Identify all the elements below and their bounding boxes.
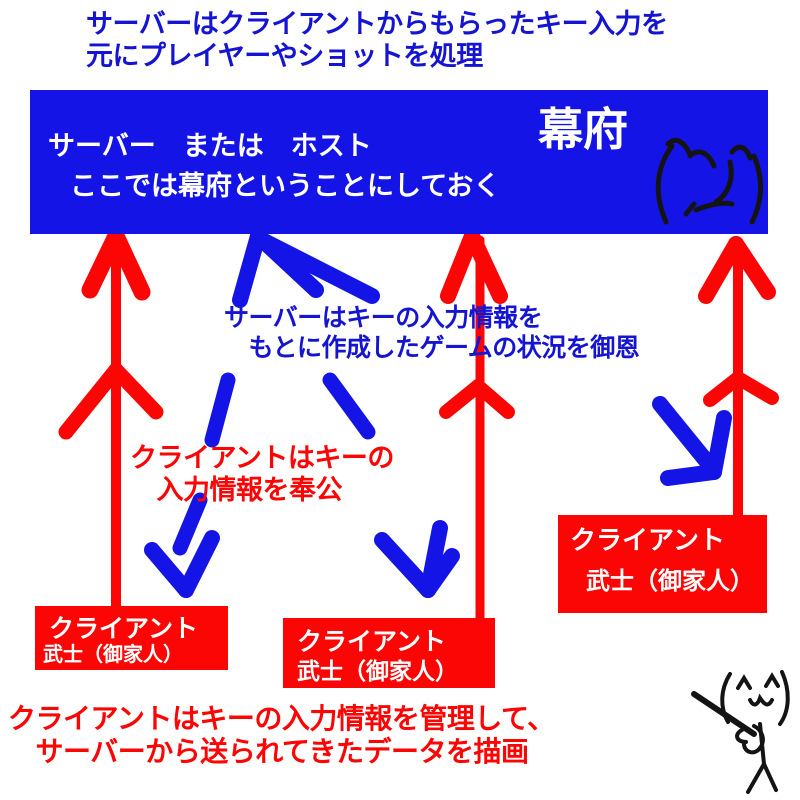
client-box-2[interactable]: クライアント 武士（御家人） (283, 618, 495, 688)
client-sub-label: 武士（御家人） (586, 561, 754, 596)
red-arrow-middle (446, 236, 508, 620)
red-arrow-right (706, 244, 772, 516)
red-arrow-left (66, 236, 156, 606)
blue-arrow-middle (262, 240, 452, 590)
caption-top: サーバーはクライアントからもらったキー入力を 元にプレイヤーやショットを処理 (86, 9, 668, 73)
kaomoji-face-icon (632, 128, 792, 234)
server-note-label: ここでは幕府ということにしておく (70, 164, 500, 203)
blue-arrow-right (660, 404, 724, 478)
client-box-1[interactable]: クライアント 武士（御家人） (35, 606, 228, 670)
caption-server-to-client: サーバーはキーの入力情報を もとに作成したゲームの状況を御恩 (224, 303, 639, 362)
client-box-3[interactable]: クライアント 武士（御家人） (558, 515, 767, 613)
server-role-label: サーバー または ホスト (48, 124, 372, 163)
caption-bottom: クライアントはキーの入力情報を管理して、 サーバーから送られてきたデータを描画 (8, 702, 555, 768)
client-sub-label: 武士（御家人） (297, 652, 458, 686)
server-box[interactable]: サーバー または ホスト ここでは幕府ということにしておく 幕府 (30, 90, 768, 234)
client-sub-label: 武士（御家人） (43, 638, 183, 667)
diagram-canvas: サーバー または ホスト ここでは幕府ということにしておく 幕府 クライアント … (0, 0, 800, 800)
client-name-label: クライアント (570, 520, 725, 557)
caption-client-to-server: クライアントはキーの 入力情報を奉公 (130, 443, 394, 507)
server-title-label: 幕府 (538, 93, 628, 158)
blue-arrow-left (152, 236, 316, 590)
samurai-doodle-icon (686, 664, 796, 796)
